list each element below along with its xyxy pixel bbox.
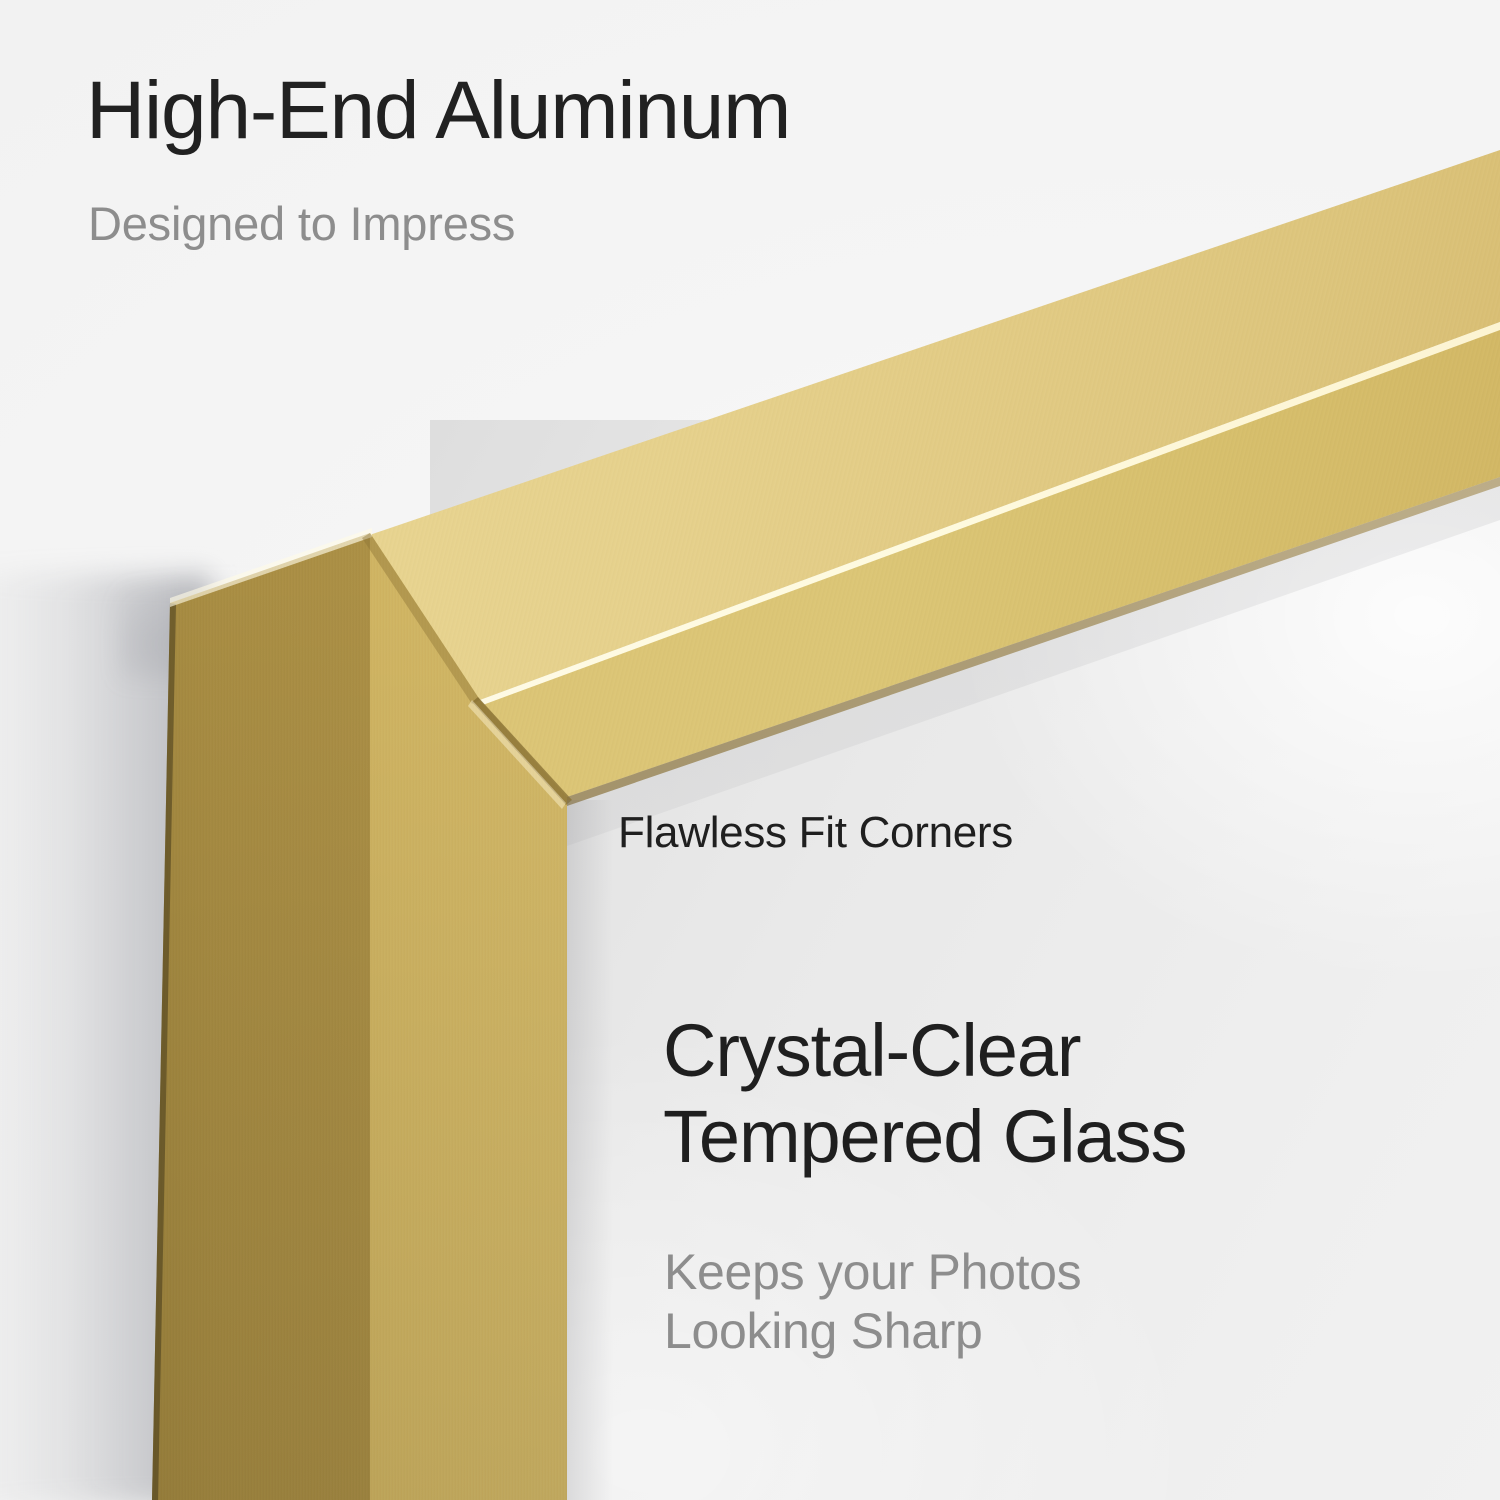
feature-title: Crystal-ClearTempered Glass xyxy=(663,1008,1186,1180)
feature-subtitle-line-1: Keeps your Photos xyxy=(664,1244,1081,1300)
page-title: High-End Aluminum xyxy=(86,68,790,153)
feature-subtitle: Keeps your PhotosLooking Sharp xyxy=(664,1243,1081,1361)
page-subtitle: Designed to Impress xyxy=(88,198,515,250)
callout-flawless-fit-corners: Flawless Fit Corners xyxy=(618,808,1013,858)
feature-title-line-1: Crystal-Clear xyxy=(663,1009,1080,1092)
glass-left-inner-shadow xyxy=(567,800,613,1500)
feature-title-line-2: Tempered Glass xyxy=(663,1095,1186,1178)
product-feature-image: High-End Aluminum Designed to Impress Fl… xyxy=(0,0,1500,1500)
feature-subtitle-line-2: Looking Sharp xyxy=(664,1303,983,1359)
